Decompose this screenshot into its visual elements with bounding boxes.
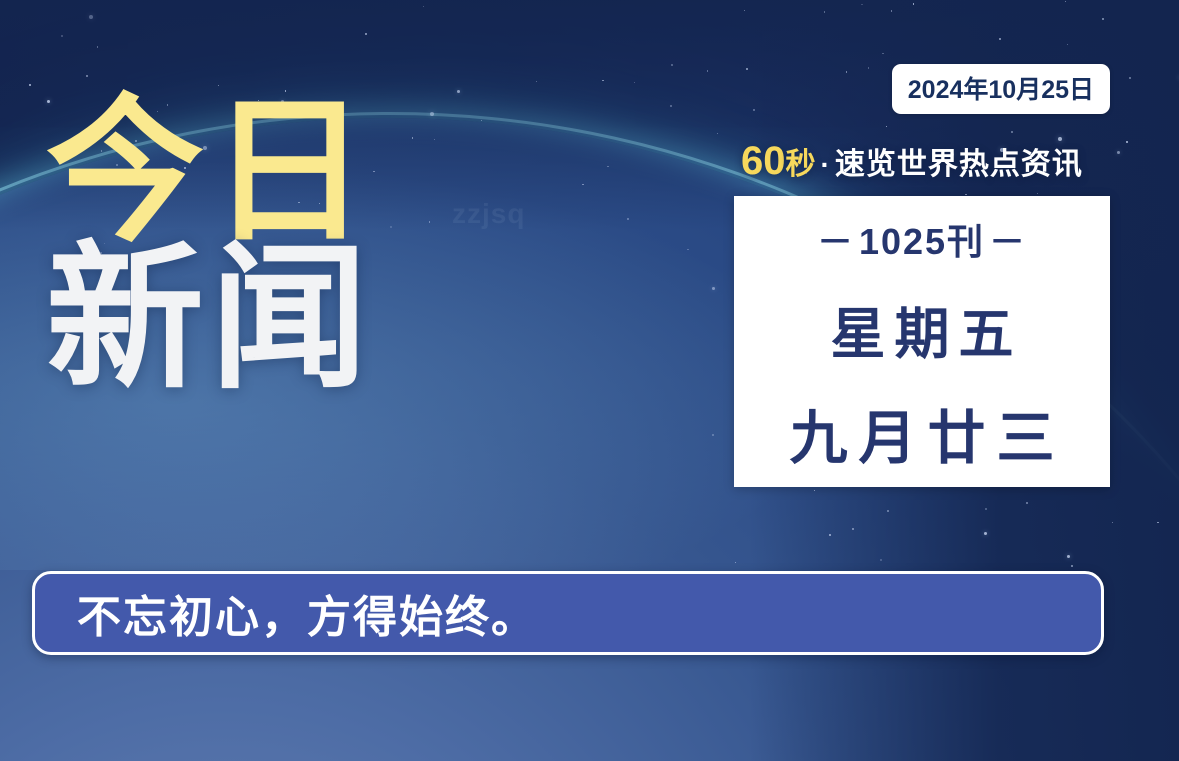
issue-number: 1025刊 [859, 221, 985, 262]
brand-title: 今日 新闻 [46, 96, 466, 397]
date-badge: 2024年10月25日 [892, 64, 1110, 114]
tagline-separator: · [816, 149, 835, 180]
tagline-unit: 秒 [786, 148, 816, 181]
issue-dash-left: － [813, 221, 859, 262]
motto-text: 不忘初心，方得始终。 [77, 581, 537, 645]
date-info-card: －1025刊－ 星期五 九月廿三 [734, 196, 1110, 487]
issue-dash-right: － [985, 221, 1031, 262]
motto-banner: 不忘初心，方得始终。 [32, 571, 1104, 655]
tagline-description: 速览世界热点资讯 [835, 148, 1083, 181]
issue-number-row: －1025刊－ [813, 213, 1031, 265]
brand-title-line-2: 新闻 [46, 243, 466, 396]
weekday-label: 星期五 [821, 289, 1022, 369]
tagline: 60秒·速览世界热点资讯 [741, 139, 1083, 184]
news-poster: zzjsq 2024年10月25日 今日 新闻 60秒·速览世界热点资讯 －10… [0, 0, 1179, 761]
lunar-date-label: 九月廿三 [778, 391, 1065, 475]
tagline-number: 60 [741, 139, 786, 183]
